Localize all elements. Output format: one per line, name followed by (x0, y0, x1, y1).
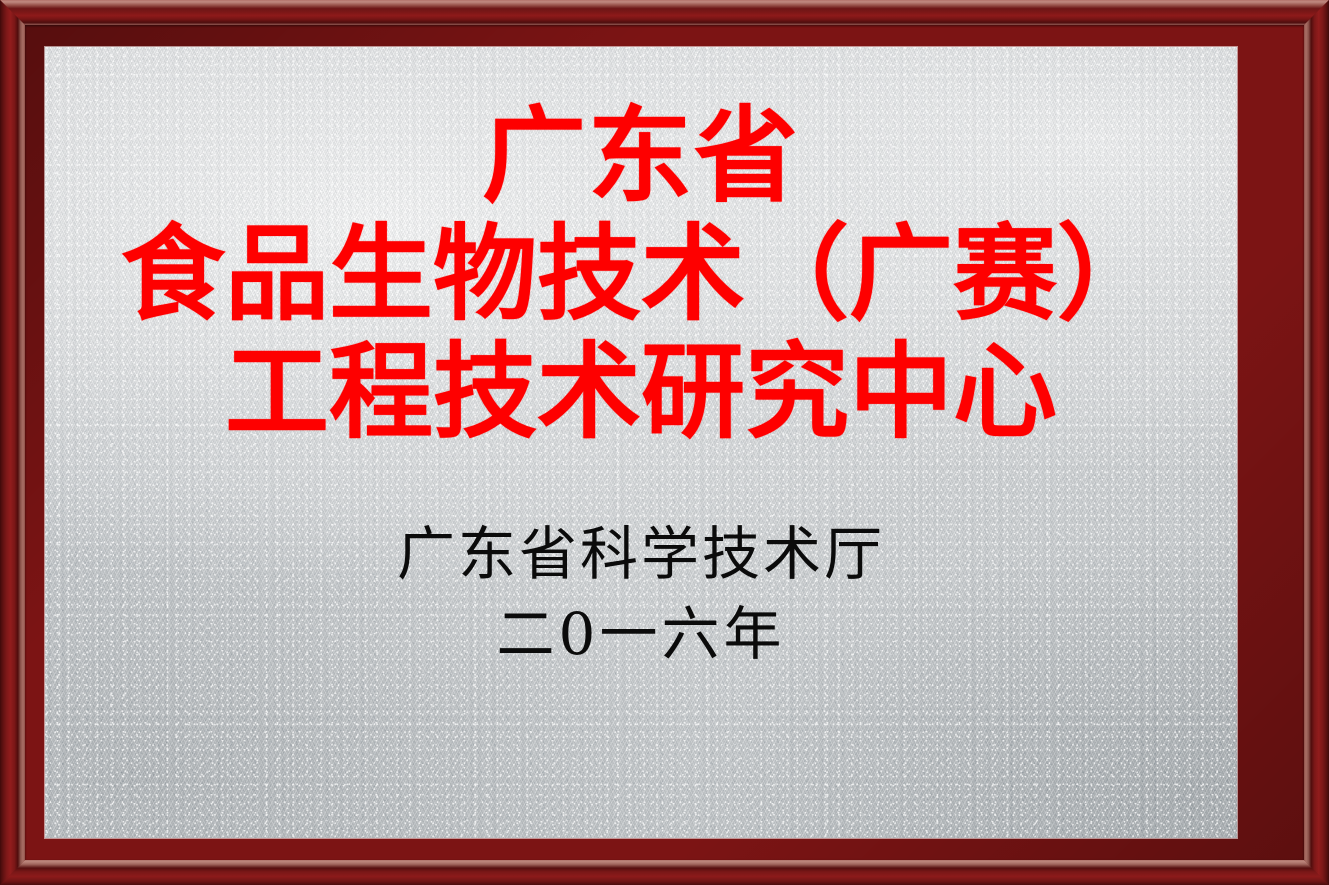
title-line-field: 食品生物技术（广赛） (45, 221, 1237, 327)
award-plaque: 广东省 食品生物技术（广赛） 工程技术研究中心 广东省科学技术厅 二0一六年 (0, 0, 1329, 885)
issue-year: 二0一六年 (45, 597, 1237, 671)
plaque-issuer-block: 广东省科学技术厅 二0一六年 (45, 517, 1237, 671)
plaque-title: 广东省 食品生物技术（广赛） 工程技术研究中心 (45, 103, 1237, 445)
title-line-province: 广东省 (45, 103, 1237, 209)
metal-plate: 广东省 食品生物技术（广赛） 工程技术研究中心 广东省科学技术厅 二0一六年 (45, 47, 1237, 838)
issuing-authority: 广东省科学技术厅 (45, 517, 1237, 591)
title-line-center: 工程技术研究中心 (45, 339, 1237, 445)
plate-content: 广东省 食品生物技术（广赛） 工程技术研究中心 广东省科学技术厅 二0一六年 (45, 47, 1237, 838)
